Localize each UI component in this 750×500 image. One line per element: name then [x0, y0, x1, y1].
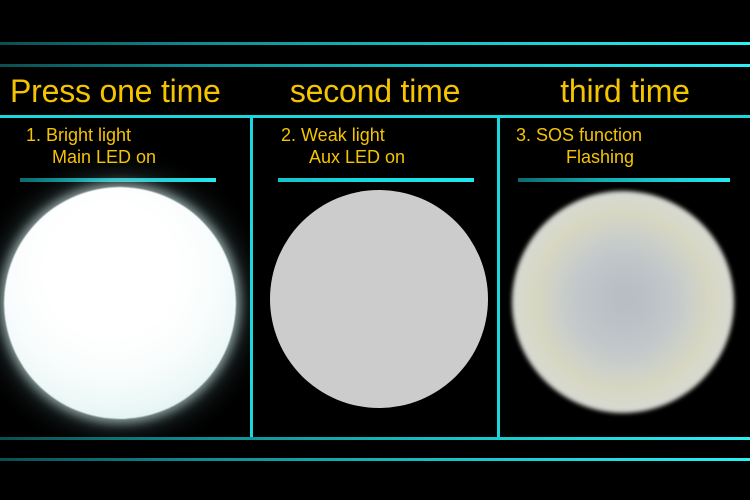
panel-weak-light-head: 2. Weak light Aux LED on: [253, 118, 497, 180]
panel-weak-light-line1: 2. Weak light: [253, 124, 497, 146]
panel-sos-function-line1: 3. SOS function: [500, 124, 750, 146]
panel-bright-light-line1: 1. Bright light: [0, 124, 250, 146]
headings-row: Press one time second time third time: [0, 67, 750, 115]
panel-sos-function-lamp-area: [500, 180, 750, 440]
panel-bright-light-line2: Main LED on: [0, 146, 250, 168]
panel-sos-function: 3. SOS function Flashing: [500, 115, 750, 440]
heading-press-one-time: Press one time: [0, 75, 250, 107]
weak-light-lamp: [270, 190, 488, 408]
panel-sos-function-head: 3. SOS function Flashing: [500, 118, 750, 180]
panel-weak-light-line2: Aux LED on: [253, 146, 497, 168]
heading-second-time: second time: [250, 75, 500, 107]
panel-sos-function-line2: Flashing: [500, 146, 750, 168]
panel-bright-light: 1. Bright light Main LED on: [0, 115, 250, 440]
bright-light-lamp: [4, 187, 236, 419]
panels-row: 1. Bright light Main LED on 2. Weak ligh…: [0, 115, 750, 440]
heading-third-time: third time: [500, 75, 750, 107]
bottom-cyan-rule-2: [0, 458, 750, 461]
panel-bright-light-head: 1. Bright light Main LED on: [0, 118, 250, 180]
panel-weak-light: 2. Weak light Aux LED on: [250, 115, 500, 440]
sos-flashing-lamp: [512, 191, 734, 413]
top-cyan-rule-1: [0, 42, 750, 45]
panel-bright-light-lamp-area: [0, 180, 250, 440]
panel-weak-light-lamp-area: [253, 180, 497, 440]
bottom-cyan-rule-1: [0, 437, 750, 440]
infographic-stage: Press one time second time third time 1.…: [0, 0, 750, 500]
